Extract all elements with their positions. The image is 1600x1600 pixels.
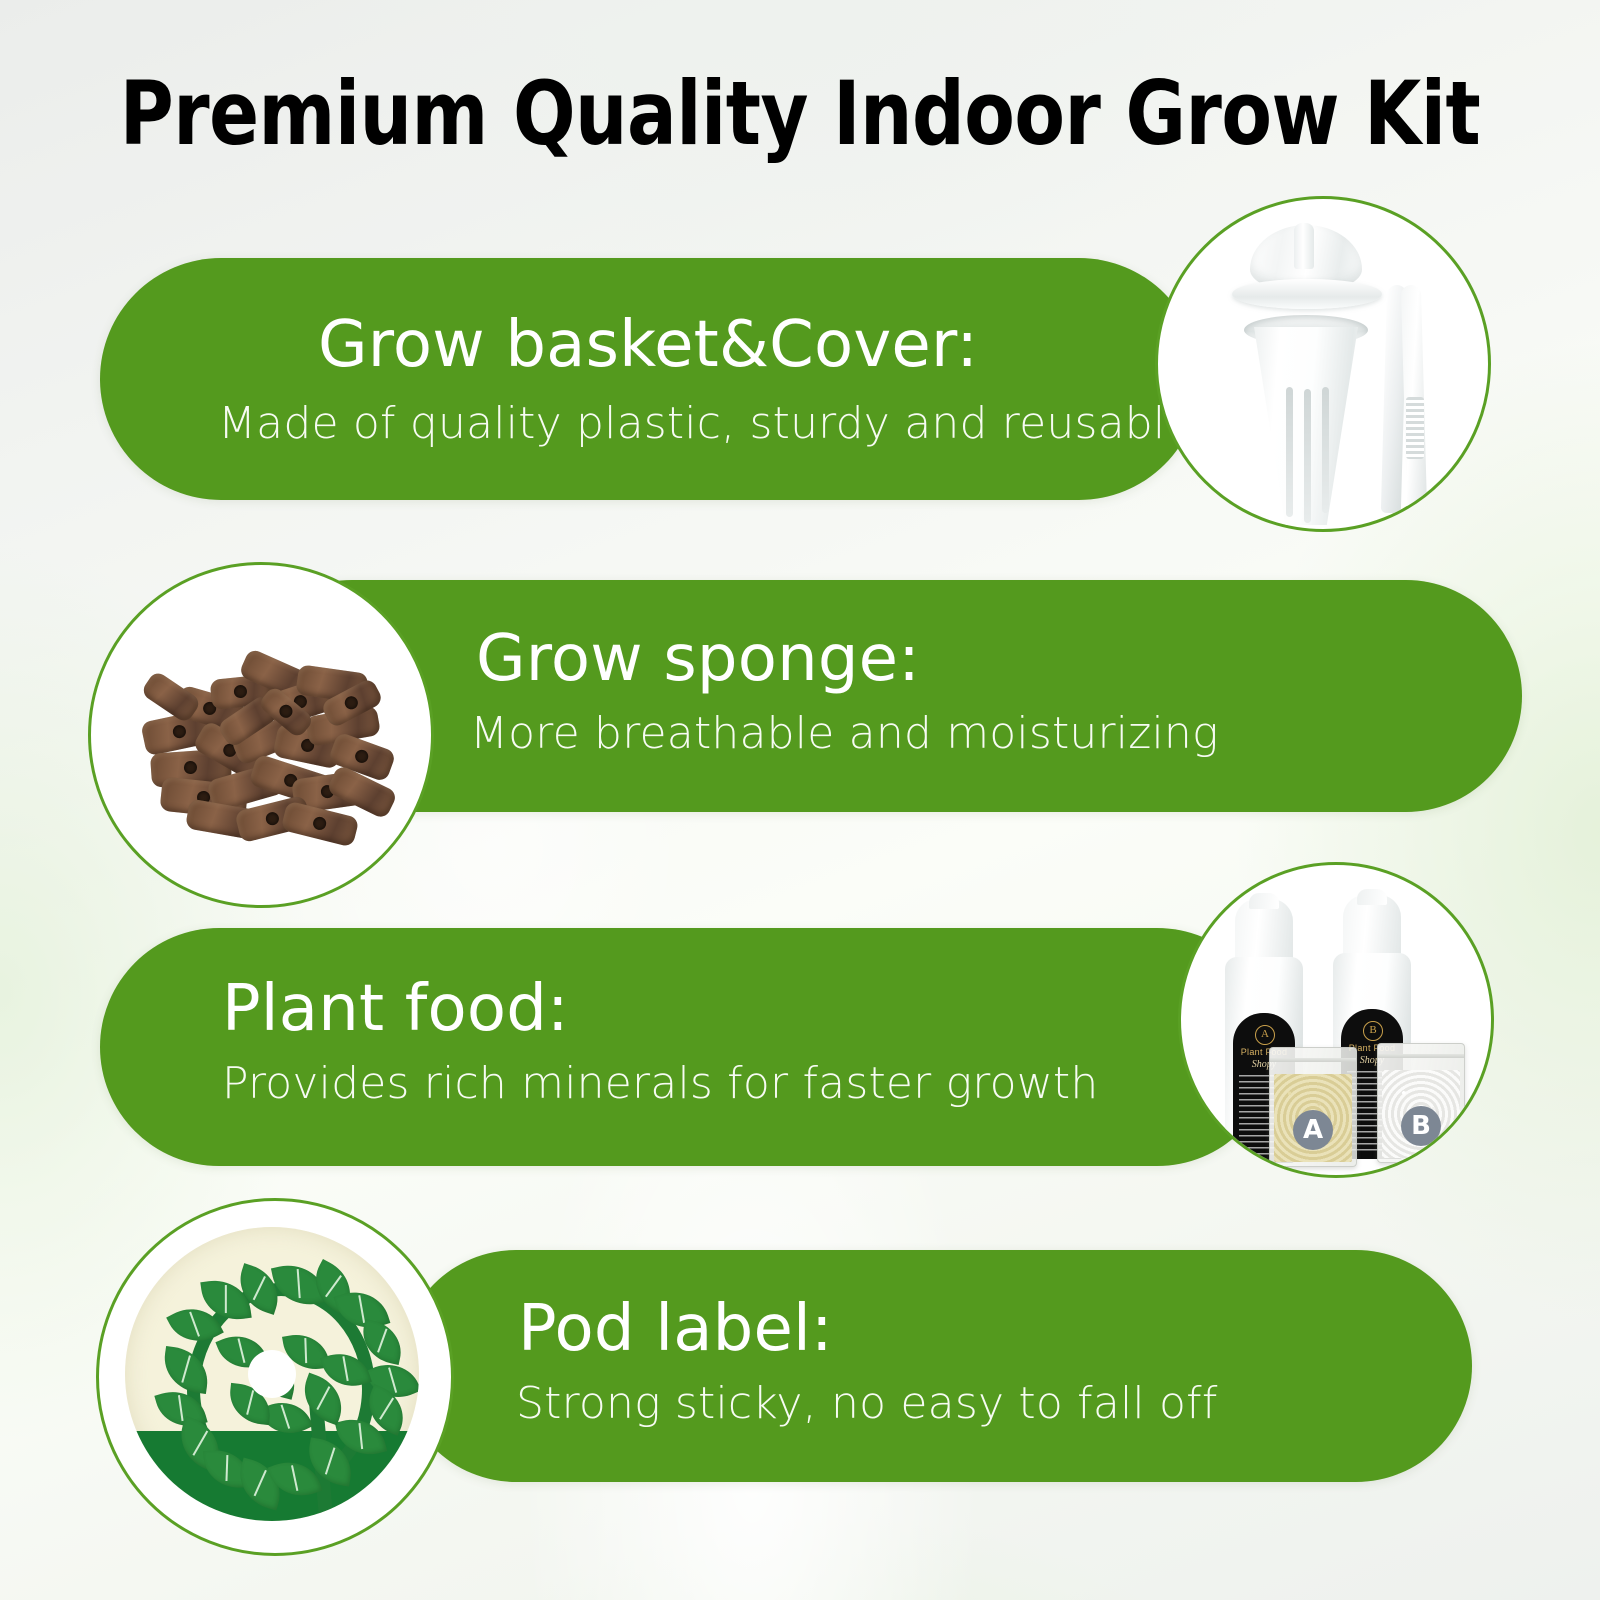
page-title: Premium Quality Indoor Grow Kit [56,62,1544,165]
pod-label-leaf-vein-icon [254,1470,267,1496]
pod-label-leaf-vein-icon [246,1390,254,1415]
feature-heading-pod-label: Pod label: [518,1292,1472,1366]
pouch-a-badge: A [1293,1110,1333,1150]
pod-label-leaf-vein-icon [325,1447,335,1474]
pod-label-leaf-vein-icon [325,1275,342,1297]
feature-subtext-grow-basket-cover: Made of quality plastic, sturdy and reus… [218,398,1200,449]
feature-card-plant-food: Plant food: Provides rich minerals for f… [100,928,1276,1166]
sponge-plug-pile-icon [91,565,431,905]
pouch-zip-icon [1378,1054,1464,1058]
dome-cover-brim-icon [1232,279,1382,309]
feature-subtext-grow-sponge: More breathable and moisturizing [470,708,1522,759]
feature-heading-grow-basket-cover: Grow basket&Cover: [318,308,1200,382]
grow-basket-slot-icon [1286,387,1293,517]
feature-card-grow-basket-cover: Grow basket&Cover: Made of quality plast… [100,258,1200,500]
pod-label-leaf-vein-icon [225,1285,227,1313]
pod-label-leaf-vein-icon [316,1386,330,1410]
bottle-cap-icon [1235,899,1293,965]
pod-label-leaf-vein-icon [377,1329,387,1353]
feature-heading-grow-sponge: Grow sponge: [476,622,1522,696]
plant-food-pouch-b: B [1377,1043,1465,1163]
pod-label-leaf-vein-icon [181,1355,190,1382]
pod-label-leaf-vein-icon [297,1269,301,1298]
pod-label-leaf-vein-icon [281,1405,290,1429]
pod-label-leaf-vein-icon [358,1295,364,1323]
bottle-b-logo-icon: B [1363,1021,1383,1041]
tweezers-grip-icon [1406,397,1424,459]
grow-basket-cover-scene [1158,199,1488,529]
pod-label-leaf-vein-icon [388,1367,397,1393]
pouch-b-badge: B [1401,1106,1441,1146]
pod-label-leaf-vein-icon [291,1465,298,1491]
plant-food-scene: A Plant Food Shopy B Plant Food Shopy A [1181,865,1491,1175]
plant-food-pouch-a: A [1269,1047,1357,1167]
pod-label-leaf-vein-icon [178,1395,183,1421]
pod-label-leaf-vein-icon [305,1338,307,1363]
grow-sponge-photo [88,562,434,908]
pod-label-center-hole-icon [248,1350,296,1398]
feature-subtext-pod-label: Strong sticky, no easy to fall off [516,1378,1472,1429]
pod-label-scene [99,1201,451,1553]
pod-label-leaf-vein-icon [189,1311,200,1336]
feature-card-pod-label: Pod label: Strong sticky, no easy to fal… [400,1250,1472,1482]
grow-basket-cover-photo [1155,196,1491,532]
pod-label-leaf-vein-icon [253,1276,266,1300]
pod-label-leaf-vein-icon [379,1398,394,1420]
grow-basket-slot-icon [1322,387,1329,513]
grow-basket-slot-icon [1304,389,1311,523]
feature-heading-plant-food: Plant food: [222,972,1276,1046]
pod-label-leaf-vein-icon [226,1455,229,1481]
pouch-zip-icon [1270,1058,1356,1062]
bottle-a-logo-icon: A [1255,1025,1275,1045]
pod-label-leaf-vein-icon [343,1356,349,1381]
feature-subtext-plant-food: Provides rich minerals for faster growth [222,1058,1276,1109]
pod-label-photo [96,1198,454,1556]
vine-disc-label-icon [125,1227,419,1521]
bottle-cap-icon [1343,895,1401,961]
dome-cover-tip-icon [1294,223,1314,269]
tweezers-icon [1384,285,1428,513]
plant-food-photo: A Plant Food Shopy B Plant Food Shopy A [1178,862,1494,1178]
pod-label-leaf-vein-icon [358,1423,362,1449]
pod-label-leaf-vein-icon [238,1339,246,1364]
